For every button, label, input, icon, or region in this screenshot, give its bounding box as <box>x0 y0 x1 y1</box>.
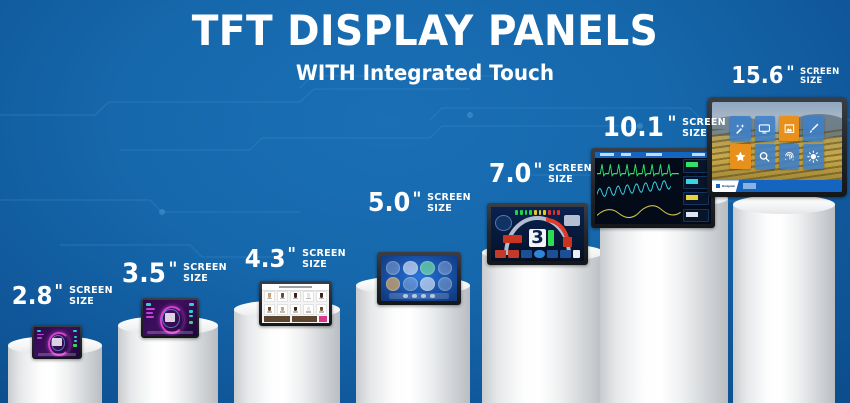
label-unit: " <box>55 283 64 301</box>
screen-7-0[interactable]: 3 <box>491 207 584 261</box>
status-chip <box>74 336 77 338</box>
cup-icon <box>281 307 284 311</box>
label-3-5: 3.5 " SCREEN SIZE <box>120 260 228 287</box>
display-panel-10-1[interactable] <box>591 148 715 228</box>
app-icon[interactable] <box>420 261 435 275</box>
status-icon <box>521 250 532 259</box>
brush-icon[interactable] <box>803 116 824 141</box>
label-5-0: 5.0 " SCREEN SIZE <box>366 190 472 216</box>
left-bar <box>37 337 43 339</box>
label-10-1: 10.1 " SCREEN SIZE <box>600 114 727 141</box>
status-chip <box>73 330 77 332</box>
label-caption-line2: SIZE <box>800 77 840 86</box>
app-home-screen-ui <box>381 256 457 301</box>
label-15-6: 15.6 " SCREEN SIZE <box>729 65 840 88</box>
display-panel-4-3[interactable] <box>259 281 332 326</box>
beverage-grid <box>264 291 327 316</box>
logo-mark-icon <box>716 184 720 188</box>
beverage-item[interactable] <box>277 291 288 302</box>
app-icon[interactable] <box>420 277 435 291</box>
pedestal-body <box>733 204 835 403</box>
cup-icon <box>268 293 271 297</box>
taskbar-brand-label: Bridgetek <box>722 184 735 188</box>
cup-icon <box>268 307 271 311</box>
gauge-dashboard-ui <box>34 327 80 357</box>
battery-icon <box>573 250 580 259</box>
status-chip <box>189 303 194 306</box>
left-indicator-bar <box>503 235 522 243</box>
globe-icon <box>534 250 545 259</box>
screen-3-5[interactable] <box>143 300 197 336</box>
dock-icon[interactable] <box>421 294 426 297</box>
right-info-panel <box>564 215 581 227</box>
beverage-menu-ui <box>262 284 329 323</box>
monitor-header-bar <box>595 152 711 158</box>
label-unit: " <box>412 190 421 209</box>
automotive-cluster-ui: 3 <box>491 207 584 261</box>
status-icon <box>547 250 558 259</box>
label-size-value: 15.6 <box>731 65 783 88</box>
status-chip <box>146 303 151 306</box>
spo2-box <box>683 176 709 189</box>
display-panel-3-5[interactable] <box>141 298 199 338</box>
label-caption-line2: SIZE <box>302 260 346 271</box>
patient-monitor-ui <box>595 152 711 224</box>
star-icon[interactable] <box>730 144 751 169</box>
label-unit: " <box>168 260 177 279</box>
left-dial-gauge <box>495 215 512 231</box>
display-panel-7-0[interactable]: 3 <box>487 203 588 265</box>
desktop-launcher-ui: Bridgetek <box>712 102 842 192</box>
beverage-item[interactable] <box>303 304 314 315</box>
heart-rate-box <box>683 159 709 172</box>
app-icon[interactable] <box>438 277 453 291</box>
app-icon[interactable] <box>403 261 418 275</box>
warning-icon <box>508 250 519 259</box>
display-panel-2-8[interactable] <box>32 325 82 359</box>
gauge-value-readout <box>165 313 176 322</box>
beverage-item[interactable] <box>277 304 288 315</box>
label-caption-line1: SCREEN <box>302 249 346 260</box>
label-unit: " <box>288 246 297 264</box>
accent-chip <box>319 316 327 322</box>
label-size-value: 4.3 <box>245 246 286 271</box>
app-icon[interactable] <box>403 277 418 291</box>
pedestal-7-0 <box>482 243 604 403</box>
label-caption-line2: SIZE <box>682 129 726 140</box>
status-chip-green <box>73 344 77 347</box>
app-icon-grid <box>386 261 453 291</box>
left-bar <box>37 334 44 336</box>
label-caption-line1: SCREEN <box>427 193 471 204</box>
footer-bar <box>38 353 77 355</box>
label-7-0: 7.0 " SCREEN SIZE <box>487 161 593 187</box>
dock-icon[interactable] <box>403 294 408 297</box>
screen-10-1[interactable] <box>595 152 711 224</box>
gear-indicator: 3 <box>529 229 546 247</box>
label-caption-line2: SIZE <box>183 274 227 285</box>
beverage-item[interactable] <box>290 304 301 315</box>
beverage-item[interactable] <box>303 291 314 302</box>
beverage-item[interactable] <box>264 291 275 302</box>
cup-icon <box>281 293 284 297</box>
beverage-item[interactable] <box>316 304 327 315</box>
gauge-value-readout <box>52 338 61 346</box>
label-size-value: 10.1 <box>603 114 664 141</box>
taskbar-tray[interactable] <box>743 183 756 190</box>
cup-icon <box>307 307 310 311</box>
label-unit: " <box>786 65 794 82</box>
page-subtitle: WITH Integrated Touch <box>21 60 829 86</box>
label-4-3: 4.3 " SCREEN SIZE <box>243 246 347 271</box>
menu-footer <box>264 316 327 322</box>
respiration-waveform <box>597 206 681 218</box>
warning-icon <box>495 250 506 259</box>
fingerprint-icon[interactable] <box>779 144 800 169</box>
screen-4-3[interactable] <box>262 284 329 323</box>
dock-icon[interactable] <box>430 294 435 297</box>
beverage-item[interactable] <box>264 304 275 315</box>
display-icon[interactable] <box>755 116 776 141</box>
pedestal-body <box>600 198 728 403</box>
ecg-waveform <box>597 164 679 175</box>
dock-icon[interactable] <box>412 294 417 297</box>
magic-wand-icon[interactable] <box>730 116 751 141</box>
left-bar <box>146 316 154 318</box>
vitals-readout-column <box>683 159 709 222</box>
image-icon[interactable] <box>779 116 800 141</box>
app-dock <box>389 293 450 298</box>
app-icon[interactable] <box>438 261 453 275</box>
shift-light-bar <box>515 210 560 214</box>
app-icon[interactable] <box>386 261 401 275</box>
label-caption-line1: SCREEN <box>69 286 113 297</box>
pedestal-body <box>482 252 604 403</box>
status-chip <box>37 330 41 332</box>
label-2-8: 2.8 " SCREEN SIZE <box>10 283 114 308</box>
boost-bar <box>548 230 555 246</box>
display-panel-15-6[interactable]: Bridgetek <box>707 97 847 197</box>
status-icon-row <box>495 250 581 259</box>
status-chip <box>189 315 193 318</box>
infographic-canvas: TFT DISPLAY PANELS WITH Integrated Touch… <box>0 0 850 403</box>
label-unit: " <box>667 114 676 133</box>
screen-5-0[interactable] <box>381 256 457 301</box>
left-bar <box>146 308 155 310</box>
status-chip <box>189 310 193 313</box>
status-chip <box>74 340 77 342</box>
status-chip-green <box>189 321 193 324</box>
label-caption-line1: SCREEN <box>183 263 227 274</box>
footer-bar <box>147 331 192 334</box>
label-caption-line1: SCREEN <box>548 164 592 175</box>
page-title: TFT DISPLAY PANELS <box>30 8 821 54</box>
label-size-value: 5.0 <box>368 190 410 216</box>
screen-15-6[interactable]: Bridgetek <box>712 102 842 192</box>
desktop-icon-grid <box>730 116 824 168</box>
cup-icon <box>294 293 297 297</box>
label-size-value: 2.8 <box>12 283 53 308</box>
gauge-dashboard-ui <box>143 300 197 336</box>
status-icon <box>560 250 571 259</box>
label-caption-line1: SCREEN <box>682 118 726 129</box>
label-caption-line2: SIZE <box>427 204 471 215</box>
magnifier-icon[interactable] <box>755 144 776 169</box>
label-size-value: 3.5 <box>122 260 166 287</box>
cup-icon <box>307 293 310 297</box>
left-bar <box>146 312 152 314</box>
cup-icon <box>294 307 297 311</box>
display-panel-5-0[interactable] <box>377 252 461 305</box>
pedestal-15-6 <box>733 195 835 403</box>
header: TFT DISPLAY PANELS WITH Integrated Touch <box>0 8 850 86</box>
beverage-item[interactable] <box>290 291 301 302</box>
start-button[interactable]: Bridgetek <box>712 180 739 192</box>
waveform-area <box>597 159 681 222</box>
right-indicator-bar <box>563 237 572 247</box>
brightness-icon[interactable] <box>803 144 824 169</box>
respiration-box <box>683 192 709 205</box>
label-size-value: 7.0 <box>489 161 531 187</box>
cup-icon <box>320 307 323 311</box>
screen-2-8[interactable] <box>34 327 80 357</box>
label-caption-line2: SIZE <box>69 297 113 308</box>
label-unit: " <box>533 161 542 180</box>
label-caption-line2: SIZE <box>548 175 592 186</box>
pedestal-top <box>733 195 835 214</box>
cup-icon <box>320 293 323 297</box>
beverage-item[interactable] <box>316 291 327 302</box>
pleth-waveform <box>597 181 671 196</box>
nibp-box <box>683 209 709 222</box>
app-icon[interactable] <box>386 277 401 291</box>
taskbar: Bridgetek <box>712 180 842 192</box>
